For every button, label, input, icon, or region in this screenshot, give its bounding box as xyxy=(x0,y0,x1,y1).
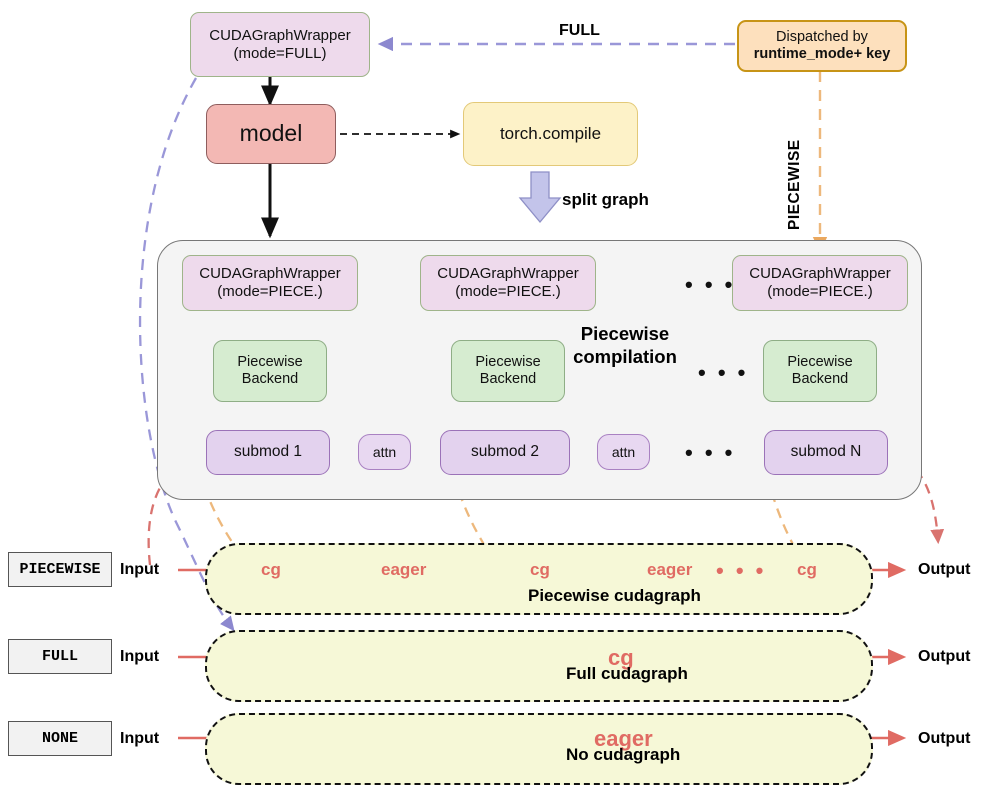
lane-name-full: Full cudagraph xyxy=(566,664,688,684)
input-label-piecewise: Input xyxy=(120,561,159,579)
dispatch-line1: Dispatched by xyxy=(776,29,868,46)
ellipsis-wrappers: • • • xyxy=(685,272,735,298)
piecewise-title-line2: compilation xyxy=(573,346,677,367)
stage-piecewise-3: cg xyxy=(530,560,550,580)
stage-piecewise-5: cg xyxy=(797,560,817,580)
attn-node-1[interactable]: attn xyxy=(358,434,411,470)
lane-full xyxy=(205,630,873,702)
attn-2-label: attn xyxy=(612,444,635,461)
backend-2-line2: Backend xyxy=(480,371,536,388)
ellipsis-lane-piecewise: • • • xyxy=(716,558,766,584)
cudagraph-wrapper-piecewise-n[interactable]: CUDAGraphWrapper (mode=PIECE.) xyxy=(732,255,908,311)
edge-label-piecewise: PIECEWISE xyxy=(786,105,804,230)
input-label-full: Input xyxy=(120,648,159,666)
cgw-full-line1: CUDAGraphWrapper xyxy=(209,27,350,45)
edge-label-full: FULL xyxy=(559,22,600,40)
cgw-piece-1-line1: CUDAGraphWrapper xyxy=(199,265,340,283)
backend-n-line1: Piecewise xyxy=(787,354,852,371)
row-tag-full[interactable]: FULL xyxy=(8,639,112,674)
torch-compile-node[interactable]: torch.compile xyxy=(463,102,638,166)
submod-n-label: submod N xyxy=(791,443,862,462)
piecewise-backend-1[interactable]: Piecewise Backend xyxy=(213,340,327,402)
cgw-piece-1-line2: (mode=PIECE.) xyxy=(217,283,322,301)
row-tag-piecewise[interactable]: PIECEWISE xyxy=(8,552,112,587)
input-label-none: Input xyxy=(120,730,159,748)
backend-2-line1: Piecewise xyxy=(475,354,540,371)
submod-2-label: submod 2 xyxy=(471,443,539,462)
lane-name-none: No cudagraph xyxy=(566,745,680,765)
model-label: model xyxy=(240,120,303,148)
stage-piecewise-1: cg xyxy=(261,560,281,580)
cudagraph-wrapper-piecewise-2[interactable]: CUDAGraphWrapper (mode=PIECE.) xyxy=(420,255,596,311)
output-label-none: Output xyxy=(918,730,970,748)
cgw-piece-2-line2: (mode=PIECE.) xyxy=(455,283,560,301)
piecewise-title-line1: Piecewise xyxy=(581,323,669,344)
output-label-piecewise: Output xyxy=(918,561,970,579)
submod-1-node[interactable]: submod 1 xyxy=(206,430,330,475)
attn-1-label: attn xyxy=(373,444,396,461)
dispatch-line2: runtime_mode+ key xyxy=(754,46,891,63)
submod-2-node[interactable]: submod 2 xyxy=(440,430,570,475)
cgw-piece-n-line2: (mode=PIECE.) xyxy=(767,283,872,301)
cgw-piece-n-line1: CUDAGraphWrapper xyxy=(749,265,890,283)
backend-1-line1: Piecewise xyxy=(237,354,302,371)
backend-1-line2: Backend xyxy=(242,371,298,388)
output-label-full: Output xyxy=(918,648,970,666)
cudagraph-wrapper-piecewise-1[interactable]: CUDAGraphWrapper (mode=PIECE.) xyxy=(182,255,358,311)
torch-compile-label: torch.compile xyxy=(500,124,601,144)
piecewise-backend-n[interactable]: Piecewise Backend xyxy=(763,340,877,402)
ellipsis-backends: • • • xyxy=(698,360,748,386)
cgw-full-line2: (mode=FULL) xyxy=(234,45,327,63)
split-graph-label: split graph xyxy=(562,190,649,210)
stage-piecewise-4: eager xyxy=(647,560,692,580)
cudagraph-wrapper-full-node[interactable]: CUDAGraphWrapper (mode=FULL) xyxy=(190,12,370,77)
ellipsis-submods: • • • xyxy=(685,440,735,466)
submod-1-label: submod 1 xyxy=(234,443,302,462)
lane-name-piecewise: Piecewise cudagraph xyxy=(528,586,701,606)
piecewise-compilation-title: Piecewise compilation xyxy=(540,322,710,368)
submod-n-node[interactable]: submod N xyxy=(764,430,888,475)
backend-n-line2: Backend xyxy=(792,371,848,388)
model-node[interactable]: model xyxy=(206,104,336,164)
row-tag-none[interactable]: NONE xyxy=(8,721,112,756)
stage-piecewise-2: eager xyxy=(381,560,426,580)
cgw-piece-2-line1: CUDAGraphWrapper xyxy=(437,265,578,283)
dispatcher-node[interactable]: Dispatched by runtime_mode+ key xyxy=(737,20,907,72)
attn-node-2[interactable]: attn xyxy=(597,434,650,470)
lane-none xyxy=(205,713,873,785)
diagram-canvas: Piecewise compilation CUDAGraphWrapper (… xyxy=(0,0,985,800)
